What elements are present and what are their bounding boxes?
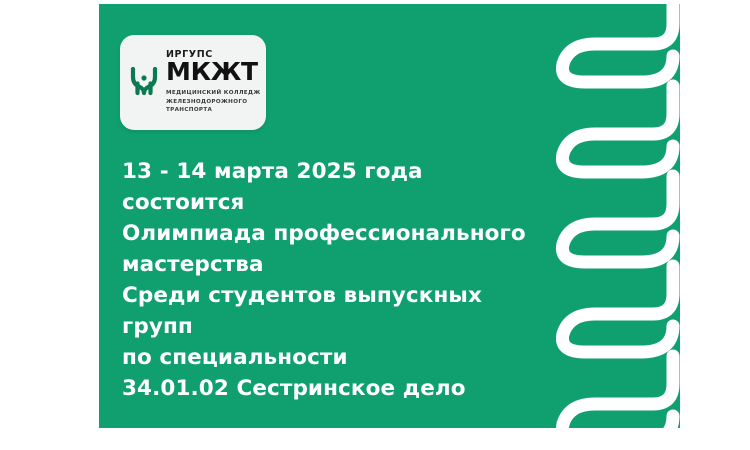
logo-subtitle: МЕДИЦИНСКИЙ КОЛЛЕДЖ ЖЕЛЕЗНОДОРОЖНОГО ТРА…	[166, 89, 257, 115]
announcement-line: по специальности	[122, 342, 572, 373]
logo-subtitle-line: ТРАНСПОРТА	[166, 106, 257, 115]
chain-link-4	[562, 266, 673, 352]
logo-wordmark: МКЖТ	[166, 60, 257, 84]
announcement-line: групп	[122, 311, 572, 342]
chain-link-5	[562, 356, 673, 428]
announcement-line: состоится	[122, 187, 572, 218]
green-panel: ИРГУПС МКЖТ МЕДИЦИНСКИЙ КОЛЛЕДЖ ЖЕЛЕЗНОД…	[99, 4, 680, 428]
announcement-line: мастерства	[122, 249, 572, 280]
interlocking-chain-pattern	[555, 4, 680, 428]
announcement-text-block: 13 - 14 марта 2025 года состоится Олимпи…	[122, 156, 572, 404]
chain-link-1	[562, 4, 673, 82]
college-logo-card: ИРГУПС МКЖТ МЕДИЦИНСКИЙ КОЛЛЕДЖ ЖЕЛЕЗНОД…	[120, 35, 266, 130]
poster-root: ИРГУПС МКЖТ МЕДИЦИНСКИЙ КОЛЛЕДЖ ЖЕЛЕЗНОД…	[0, 0, 750, 450]
logo-subtitle-line: МЕДИЦИНСКИЙ КОЛЛЕДЖ	[166, 89, 257, 98]
logo-subtitle-line: ЖЕЛЕЗНОДОРОЖНОГО	[166, 98, 257, 107]
announcement-line: 13 - 14 марта 2025 года	[122, 156, 572, 187]
announcement-line: Олимпиада профессионального	[122, 218, 572, 249]
announcement-line: 34.01.02 Сестринское дело	[122, 373, 572, 404]
announcement-line: Среди студентов выпускных	[122, 280, 572, 311]
chain-link-3	[562, 176, 673, 262]
logo-text-block: ИРГУПС МКЖТ МЕДИЦИНСКИЙ КОЛЛЕДЖ ЖЕЛЕЗНОД…	[166, 50, 257, 115]
mkzht-emblem-icon	[127, 63, 161, 97]
chain-link-2	[562, 86, 673, 172]
